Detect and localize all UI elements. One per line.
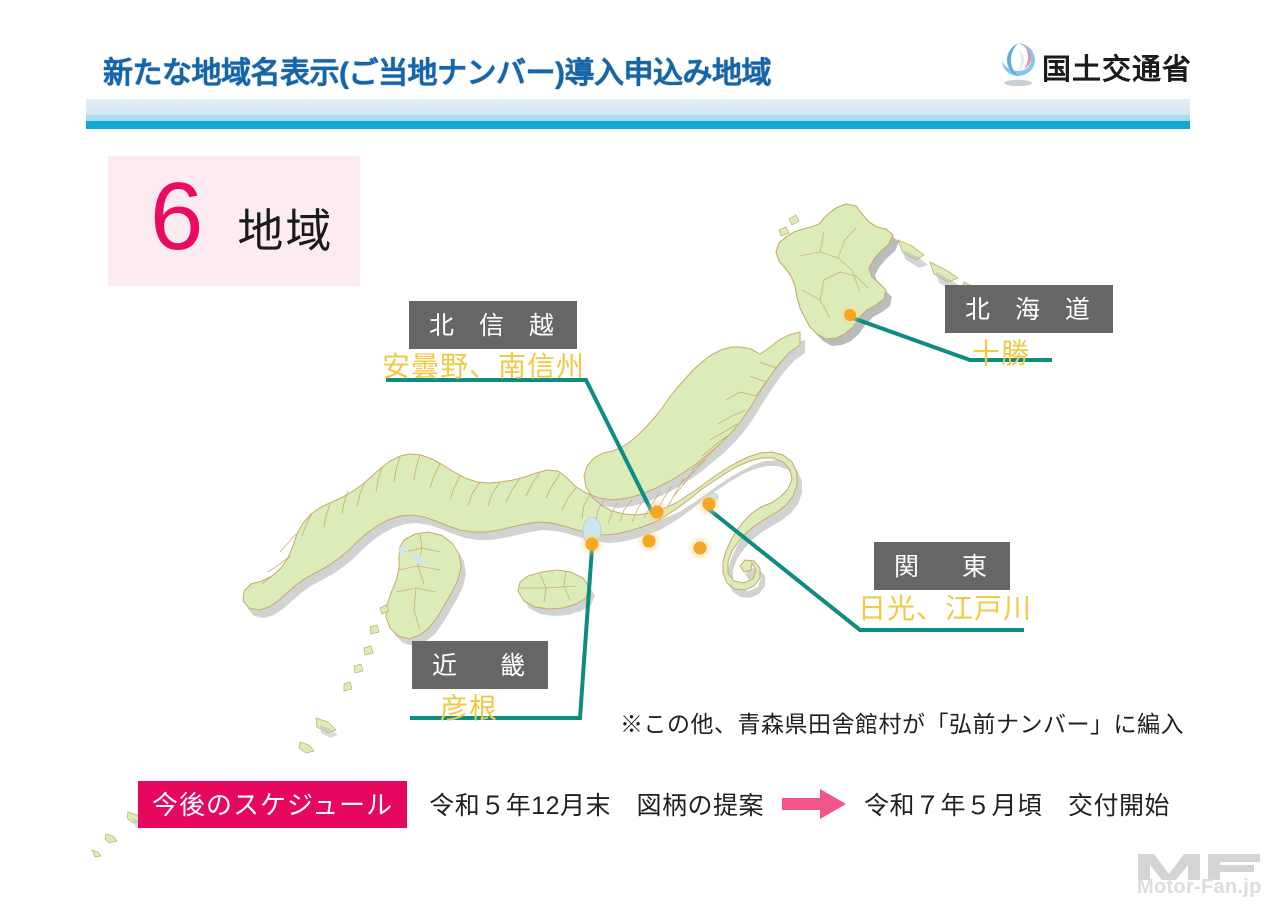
schedule-tag: 今後のスケジュール — [138, 781, 407, 828]
schedule-step-2: 令和７年５月頃 交付開始 — [864, 786, 1170, 822]
region-cities-kinki: 彦根 — [440, 687, 498, 727]
footnote-text: ※この他、青森県田舎館村が「弘前ナンバー」に編入 — [620, 705, 1184, 739]
region-label-kanto: 関 東 — [874, 542, 1010, 590]
schedule-step-1: 令和５年12月末 図柄の提案 — [429, 786, 764, 822]
region-cities-kanto: 日光、江戸川 — [858, 587, 1032, 627]
region-cities-hokkaido: 十勝 — [972, 332, 1030, 372]
dot-minamishinshu — [636, 528, 662, 554]
watermark-text: Motor-Fan.jp — [1137, 876, 1262, 899]
right-arrow-icon — [782, 787, 848, 821]
dot-nikko — [696, 491, 722, 517]
slide-root: 新たな地域名表示(ご当地ナンバー)導入申込み地域 国土交通省 6 地域 — [0, 0, 1280, 905]
dot-edogawa — [687, 535, 713, 561]
region-cities-hokushinetsu: 安曇野、南信州 — [382, 345, 585, 385]
region-label-hokushinetsu: 北 信 越 — [409, 301, 577, 349]
region-label-kinki: 近 畿 — [412, 641, 548, 689]
region-label-hokkaido: 北 海 道 — [945, 285, 1113, 333]
japan-map — [0, 0, 1280, 905]
dot-hikone — [579, 531, 605, 557]
dot-azumino — [644, 499, 670, 525]
dot-tokachi — [838, 303, 862, 327]
schedule-row: 今後のスケジュール 令和５年12月末 図柄の提案 令和７年５月頃 交付開始 — [138, 784, 1170, 824]
